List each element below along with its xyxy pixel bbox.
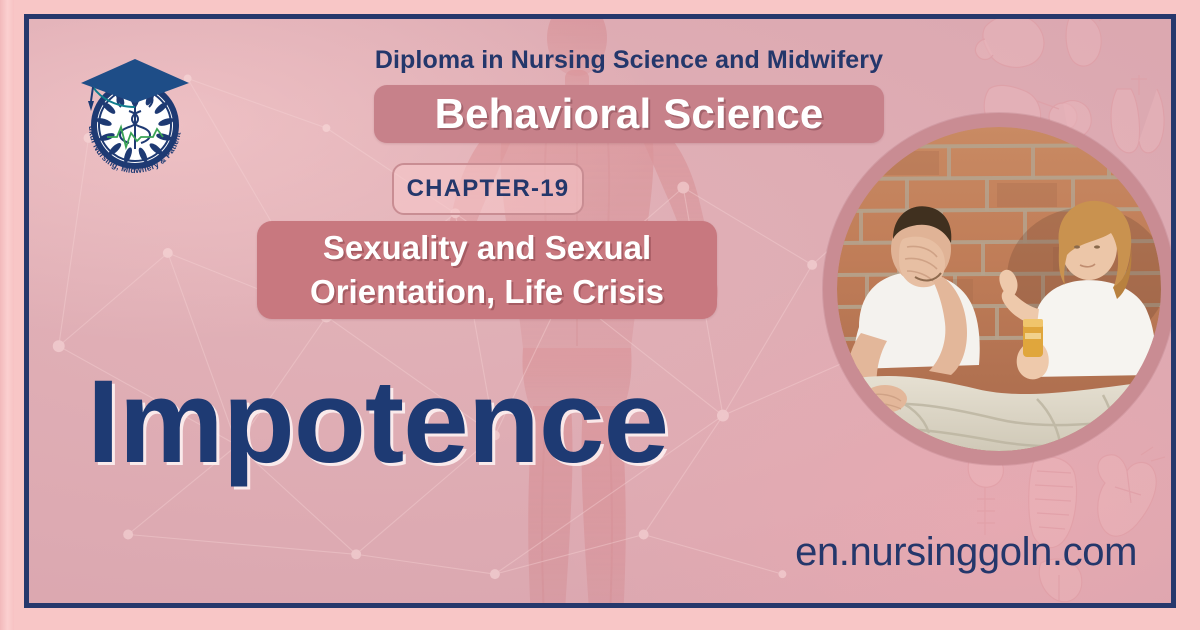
navy-frame: Gurukul Nursing, Midwifery & Patient Car… <box>24 14 1176 608</box>
website-url: en.nursinggoln.com <box>795 530 1137 575</box>
couple-photo-illustration <box>837 127 1161 451</box>
chapter-topic-line-1: Sexuality and Sexual <box>271 226 703 270</box>
left-edge-stripe <box>0 0 14 630</box>
chapter-badge: CHAPTER-19 <box>392 163 584 215</box>
photo-circle <box>837 127 1161 451</box>
chapter-topic-pill: Sexuality and Sexual Orientation, Life C… <box>257 221 717 319</box>
chapter-topic-line-2: Orientation, Life Crisis <box>271 270 703 314</box>
chapter-label: CHAPTER-19 <box>407 175 570 203</box>
banner-root: Gurukul Nursing, Midwifery & Patient Car… <box>0 0 1200 630</box>
page-title: Impotence <box>87 363 668 481</box>
course-title-pill: Behavioral Science <box>374 85 884 143</box>
gurukul-logo-icon: Gurukul Nursing, Midwifery & Patient Car… <box>71 51 199 183</box>
course-kicker: Diploma in Nursing Science and Midwifery <box>329 46 929 75</box>
photo-ring <box>823 113 1175 465</box>
anatomy-skeleton-heart-line-art-icon <box>955 443 1175 608</box>
course-title: Behavioral Science <box>435 90 824 138</box>
